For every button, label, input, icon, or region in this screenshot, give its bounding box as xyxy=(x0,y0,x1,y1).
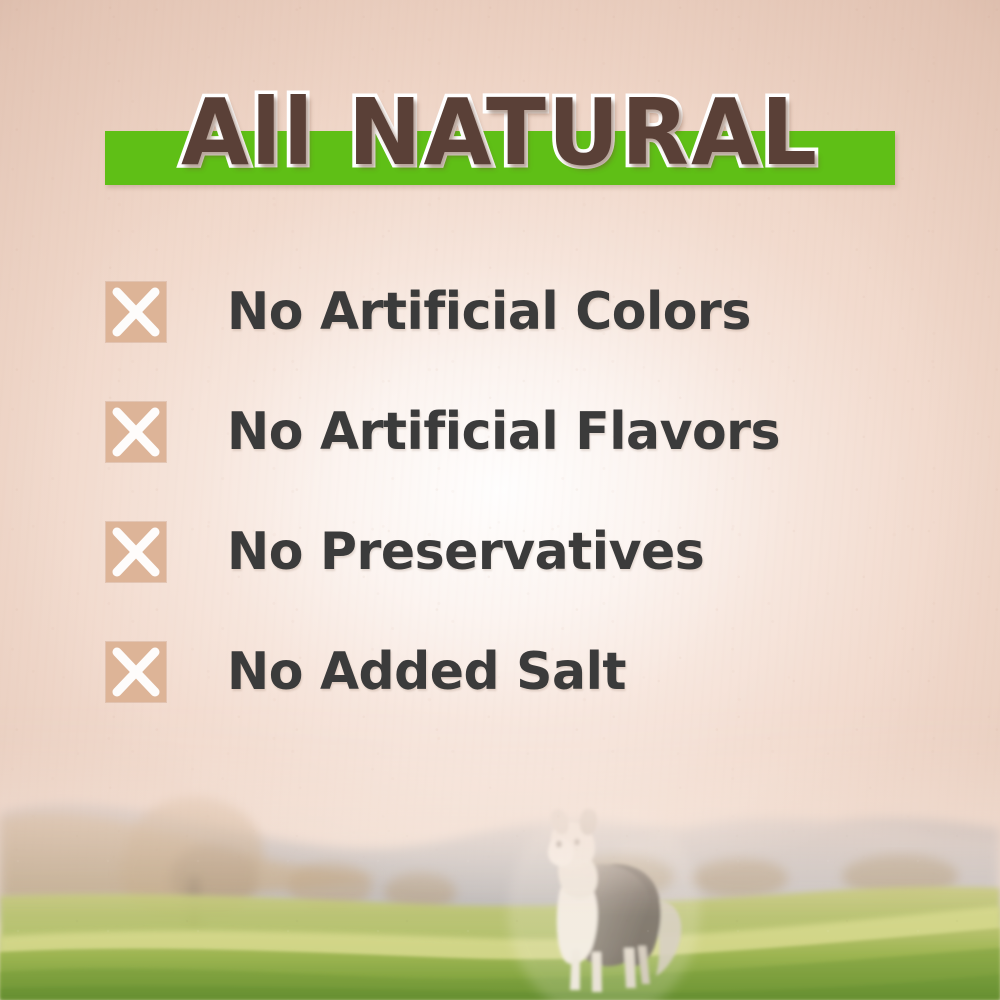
landscape-photo xyxy=(0,700,1000,1000)
x-mark-icon xyxy=(106,642,166,702)
promo-panel: All NATURAL No Artificial Colors xyxy=(0,0,1000,1000)
x-mark-icon xyxy=(106,522,166,582)
list-item-label: No Added Salt xyxy=(227,644,626,700)
header-banner: All NATURAL xyxy=(0,74,1000,194)
list-item-label: No Preservatives xyxy=(227,524,704,580)
list-item: No Artificial Colors xyxy=(106,252,936,372)
list-item: No Preservatives xyxy=(106,492,936,612)
list-item-label: No Artificial Flavors xyxy=(227,404,780,460)
list-item-label: No Artificial Colors xyxy=(227,284,751,340)
x-mark-icon xyxy=(106,282,166,342)
x-mark-icon xyxy=(106,402,166,462)
list-item: No Artificial Flavors xyxy=(106,372,936,492)
page-title: All NATURAL xyxy=(0,74,1000,192)
feature-list: No Artificial Colors No Artificial Flavo… xyxy=(106,252,936,732)
